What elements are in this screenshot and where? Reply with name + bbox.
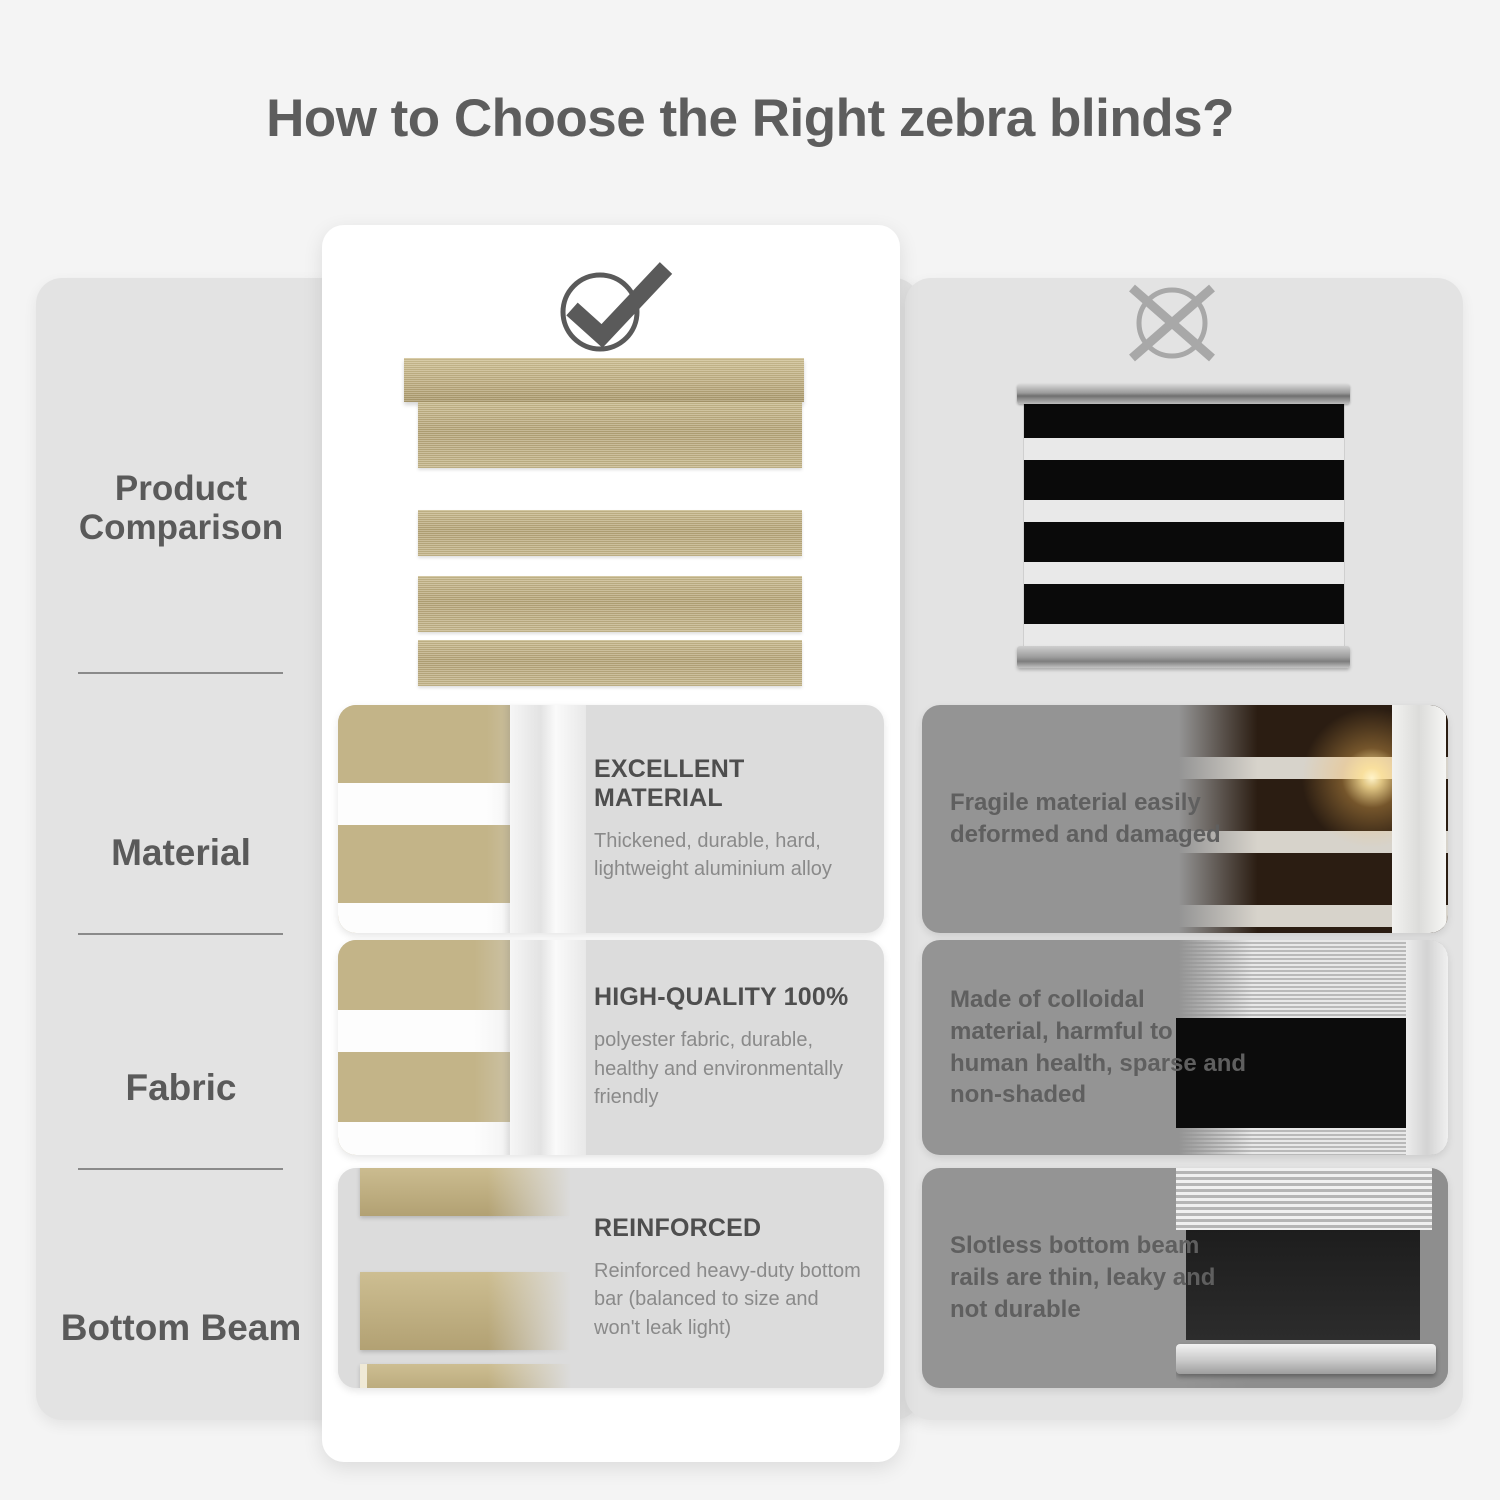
tan-bottom-beam-photo xyxy=(338,1168,586,1388)
feature-card-fabric-good[interactable]: HIGH-QUALITY 100% polyester fabric, dura… xyxy=(338,940,884,1155)
feature-body: Made of colloidal material, harmful to h… xyxy=(950,984,1248,1112)
row-divider-3 xyxy=(78,1168,283,1170)
feature-card-text: REINFORCED Reinforced heavy-duty bottom … xyxy=(594,1168,866,1388)
page-title: How to Choose the Right zebra blinds? xyxy=(0,88,1500,149)
blind-valance xyxy=(404,358,804,402)
check-circle-icon xyxy=(548,262,678,354)
hero-image-bad-blind xyxy=(1017,378,1350,668)
row-label-product-comparison: Product Comparison xyxy=(50,448,312,568)
row-label-fabric: Fabric xyxy=(50,1043,312,1133)
feature-body: Slotless bottom beam rails are thin, lea… xyxy=(950,1230,1248,1326)
feature-card-fabric-bad[interactable]: Made of colloidal material, harmful to h… xyxy=(922,940,1448,1155)
blind-slat xyxy=(418,510,802,556)
blind-slat xyxy=(418,640,802,686)
feature-body: Reinforced heavy-duty bottom bar (balanc… xyxy=(594,1257,866,1342)
feature-card-material-bad[interactable]: Fragile material easily deformed and dam… xyxy=(922,705,1448,933)
row-label-column: Product Comparison Material Fabric Botto… xyxy=(50,278,312,1420)
feature-body: Thickened, durable, hard, lightweight al… xyxy=(594,827,866,884)
feature-card-bottom-beam-bad[interactable]: Slotless bottom beam rails are thin, lea… xyxy=(922,1168,1448,1388)
feature-body: polyester fabric, durable, healthy and e… xyxy=(594,1026,866,1111)
feature-card-text: Slotless bottom beam rails are thin, lea… xyxy=(950,1168,1248,1388)
row-label-material: Material xyxy=(50,808,312,898)
feature-card-bottom-beam-good[interactable]: REINFORCED Reinforced heavy-duty bottom … xyxy=(338,1168,884,1388)
feature-title: EXCELLENT MATERIAL xyxy=(594,755,866,813)
feature-card-text: HIGH-QUALITY 100% polyester fabric, dura… xyxy=(594,940,866,1155)
feature-title: HIGH-QUALITY 100% xyxy=(594,983,866,1012)
tan-zebra-fabric-photo xyxy=(338,940,586,1155)
feature-card-text: EXCELLENT MATERIAL Thickened, durable, h… xyxy=(594,705,866,933)
row-label-bottom-beam: Bottom Beam xyxy=(50,1268,312,1388)
row-divider-1 xyxy=(78,672,283,674)
feature-title: REINFORCED xyxy=(594,1214,866,1243)
cross-circle-icon xyxy=(1120,278,1224,364)
tan-zebra-blind-window-photo xyxy=(338,705,586,933)
blind-bottom-rail xyxy=(1017,646,1350,668)
row-divider-2 xyxy=(78,933,283,935)
feature-card-text: Fragile material easily deformed and dam… xyxy=(950,705,1248,933)
feature-body: Fragile material easily deformed and dam… xyxy=(950,787,1248,851)
blind-slat xyxy=(418,576,802,632)
feature-card-text: Made of colloidal material, harmful to h… xyxy=(950,940,1248,1155)
blind-top-rail xyxy=(1017,384,1350,404)
blind-slat xyxy=(418,402,802,468)
hero-image-good-blind xyxy=(404,358,816,698)
dark-zebra-fabric xyxy=(1023,398,1345,648)
feature-card-material-good[interactable]: EXCELLENT MATERIAL Thickened, durable, h… xyxy=(338,705,884,933)
